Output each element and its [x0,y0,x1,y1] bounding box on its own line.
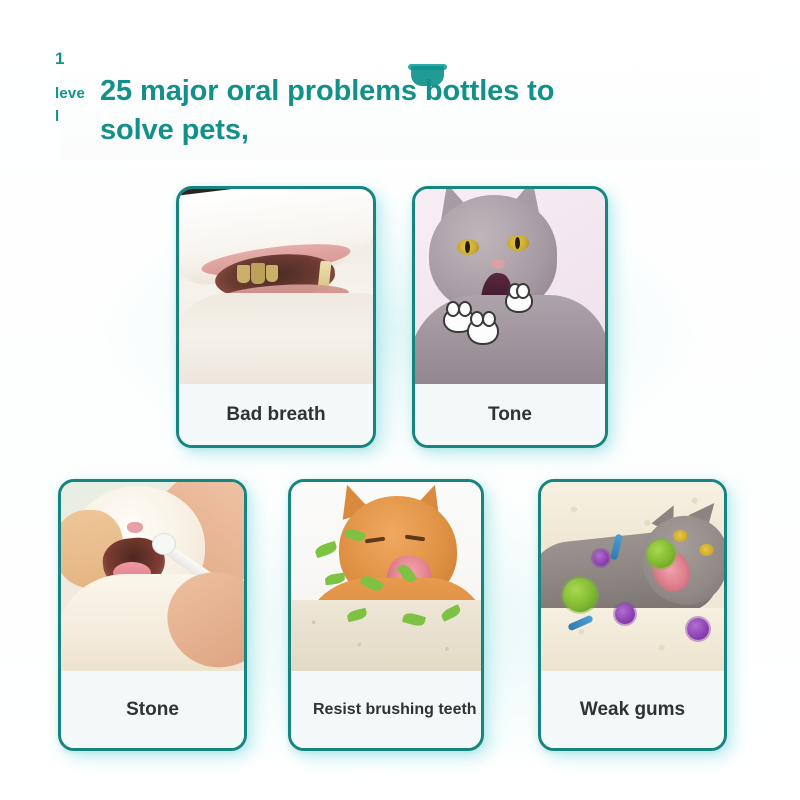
paw-puff-icon [467,317,499,345]
problem-card-tone[interactable]: Tone [412,186,608,448]
card-label-text: Stone [61,698,244,721]
card-image-resist-brushing-teeth [291,482,481,674]
header: 1 level 25 major oral problems bottles t… [0,0,800,175]
toothbrush-icon [153,534,175,554]
page-title-line-2: solve pets, [100,111,760,150]
card-image-stone [61,482,244,674]
paw-puff-icon [505,289,533,313]
card-label-text: Resist brushing teeth [313,700,481,720]
page-title-line-1: 25 major oral problems bottles to [100,72,760,111]
card-label-stone: Stone [61,671,244,748]
card-label-text: Tone [415,403,605,426]
page-title: 25 major oral problems bottles to solve … [100,72,760,150]
problem-card-bad-breath[interactable]: Bad breath [176,186,376,448]
level-label: 1 level [55,35,103,128]
card-image-tone [415,189,605,387]
card-label-tone: Tone [415,384,605,445]
card-label-weak-gums: Weak gums [541,671,724,748]
germ-icon [687,618,709,640]
card-label-bad-breath: Bad breath [179,384,373,445]
card-label-text: Weak gums [541,698,724,721]
problem-card-resist-brushing-teeth[interactable]: Resist brushing teeth [288,479,484,751]
card-label-text: Bad breath [179,403,373,426]
card-image-bad-breath [179,189,373,387]
level-word: level [55,82,89,128]
germ-icon [593,550,609,566]
germ-icon [647,540,675,568]
card-image-weak-gums [541,482,724,674]
problem-card-stone[interactable]: Stone [58,479,247,751]
card-label-resist-brushing-teeth: Resist brushing teeth [291,671,481,748]
problem-card-weak-gums[interactable]: Weak gums [538,479,727,751]
mint-leaf-icon [314,541,338,558]
level-number: 1 [55,35,103,82]
germ-icon [563,578,597,612]
germ-icon [615,604,635,624]
product-infographic-page: 1 level 25 major oral problems bottles t… [0,0,800,800]
